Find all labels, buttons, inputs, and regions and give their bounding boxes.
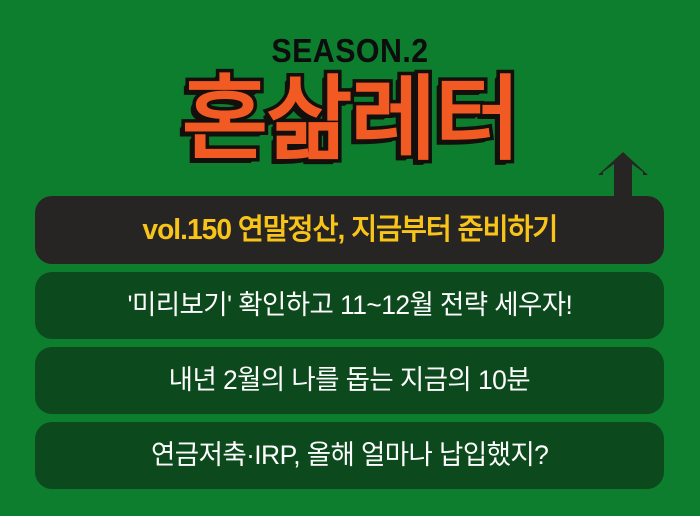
headline-row-label: 내년 2월의 나를 돕는 지금의 10분 [169, 367, 530, 394]
headline-row-label: '미리보기' 확인하고 11~12월 전략 세우자! [127, 292, 572, 319]
wordmark-container: 혼삶레터 [0, 74, 700, 166]
newsletter-banner: SEASON.2 혼삶레터 vol.150 연말정산, 지금부터 준비하기 '미… [0, 0, 700, 516]
headline-row-featured[interactable]: vol.150 연말정산, 지금부터 준비하기 [35, 196, 664, 264]
headline-row-label: vol.150 연말정산, 지금부터 준비하기 [142, 216, 557, 245]
masthead: SEASON.2 혼삶레터 [0, 0, 700, 196]
headline-row-list: vol.150 연말정산, 지금부터 준비하기 '미리보기' 확인하고 11~1… [35, 196, 664, 489]
headline-row-3[interactable]: 연금저축·IRP, 올해 얼마나 납입했지? [35, 422, 664, 489]
headline-row-label: 연금저축·IRP, 올해 얼마나 납입했지? [151, 442, 548, 469]
headline-row-2[interactable]: 내년 2월의 나를 돕는 지금의 10분 [35, 347, 664, 414]
season-label: SEASON.2 [28, 34, 672, 67]
newsletter-wordmark: 혼삶레터 [181, 74, 518, 166]
headline-row-1[interactable]: '미리보기' 확인하고 11~12월 전략 세우자! [35, 272, 664, 339]
